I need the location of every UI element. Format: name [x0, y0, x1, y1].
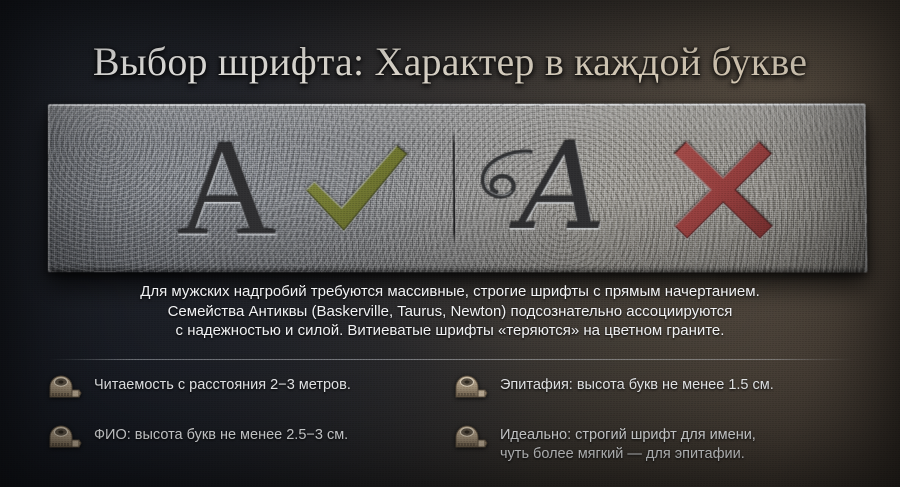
list-item: Эпитафия: высота букв не менее 1.5 см. [454, 374, 864, 410]
infographic-canvas: Выбор шрифта: Характер в каждой букве A [0, 0, 900, 487]
list-item-label: Идеально: строгий шрифт для имени, чуть … [500, 424, 756, 464]
check-mark-icon [300, 138, 413, 238]
body-line-3: с надежностью и силой. Витиеватые шрифты… [50, 321, 850, 341]
serif-letter-sample: A [166, 112, 287, 262]
list-item-label: Эпитафия: высота букв не менее 1.5 см. [500, 374, 774, 395]
stone-plaque: A A [48, 104, 862, 272]
list-item-label: Читаемость с расстояния 2−3 метров. [94, 374, 351, 395]
plaque-divider [453, 130, 456, 246]
stone-plaque-face: A A [48, 103, 867, 272]
list-item: Читаемость с расстояния 2−3 метров. [48, 374, 448, 410]
list-item: Идеально: строгий шрифт для имени, чуть … [454, 424, 864, 474]
list-item-label: ФИО: высота букв не менее 2.5−3 см. [94, 424, 348, 445]
script-letter-sample: A [479, 114, 641, 263]
script-swash-flourish [477, 148, 534, 206]
tape-measure-icon [48, 374, 82, 400]
serif-letter-a: A [176, 118, 276, 256]
bullet-list: Читаемость с расстояния 2−3 метров. Эпит… [48, 374, 864, 474]
list-item: ФИО: высота букв не менее 2.5−3 см. [48, 424, 448, 474]
page-title: Выбор шрифта: Характер в каждой букве [0, 38, 900, 86]
tape-measure-icon [48, 424, 82, 450]
body-line-1: Для мужских надгробий требуются массивны… [50, 282, 850, 302]
section-divider [48, 359, 854, 360]
cross-mark-icon [668, 136, 778, 241]
body-paragraph: Для мужских надгробий требуются массивны… [50, 282, 850, 341]
tape-measure-icon [454, 424, 488, 450]
tape-measure-icon [454, 374, 488, 400]
body-line-2: Семейства Антиквы (Baskerville, Taurus, … [50, 302, 850, 322]
